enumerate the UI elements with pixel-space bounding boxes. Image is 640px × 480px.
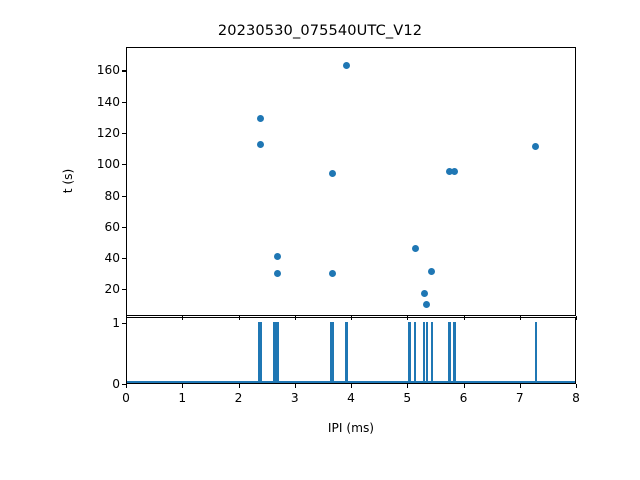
y-tick-label: 120 [82, 126, 120, 140]
stem-spike [408, 322, 411, 383]
y-tick-label: 0 [82, 377, 120, 391]
x-tick-mark [182, 384, 183, 388]
scatter-point [428, 268, 435, 275]
x-tick-label: 0 [122, 391, 130, 405]
stem-baseline [127, 381, 575, 383]
y-tick-label: 1 [82, 316, 120, 330]
x-tick-mark [182, 316, 183, 320]
x-tick-mark [407, 316, 408, 320]
y-tick-mark [122, 323, 126, 324]
x-tick-mark [576, 384, 577, 388]
stem-spike [332, 322, 335, 383]
y-tick-label: 80 [82, 189, 120, 203]
figure-title: 20230530_075540UTC_V12 [0, 22, 640, 39]
scatter-point [257, 115, 264, 122]
y-tick-mark [122, 196, 126, 197]
x-tick-mark [126, 384, 127, 388]
stem-spike [535, 322, 538, 383]
y-tick-label: 140 [82, 95, 120, 109]
x-tick-mark [520, 384, 521, 388]
x-tick-label: 5 [403, 391, 411, 405]
x-tick-mark [351, 384, 352, 388]
x-axis-label: IPI (ms) [328, 421, 374, 435]
stem-spike [448, 322, 451, 383]
x-tick-mark [295, 384, 296, 388]
scatter-point [274, 270, 281, 277]
scatter-point [257, 141, 264, 148]
x-tick-mark [464, 316, 465, 320]
x-tick-mark [295, 316, 296, 320]
x-tick-mark [464, 384, 465, 388]
y-axis-label: t (s) [61, 169, 75, 194]
stem-spike [431, 322, 434, 383]
x-tick-mark [407, 384, 408, 388]
x-tick-label: 1 [178, 391, 186, 405]
x-tick-mark [576, 316, 577, 320]
scatter-point [274, 253, 281, 260]
stem-spike [273, 322, 276, 383]
x-tick-label: 2 [235, 391, 243, 405]
y-tick-label: 160 [82, 63, 120, 77]
y-tick-mark [122, 289, 126, 290]
scatter-point [421, 290, 428, 297]
stem-plot-axes [126, 317, 576, 384]
y-tick-label: 60 [82, 220, 120, 234]
stem-spike [260, 322, 263, 383]
x-tick-label: 6 [460, 391, 468, 405]
y-tick-mark [122, 102, 126, 103]
y-tick-label: 40 [82, 251, 120, 265]
stem-spike [276, 322, 279, 383]
stem-spike [453, 322, 456, 383]
x-tick-label: 8 [572, 391, 580, 405]
y-tick-label: 100 [82, 157, 120, 171]
matplotlib-figure: 20230530_075540UTC_V12 t (s) IPI (ms) 20… [0, 0, 640, 480]
stem-spike [346, 322, 349, 383]
x-tick-mark [351, 316, 352, 320]
x-tick-label: 4 [347, 391, 355, 405]
x-tick-mark [239, 384, 240, 388]
y-tick-mark [122, 164, 126, 165]
y-tick-mark [122, 70, 126, 71]
y-tick-mark [122, 258, 126, 259]
scatter-point [343, 62, 350, 69]
scatter-point [412, 245, 419, 252]
stem-spike [426, 322, 429, 383]
scatter-point [451, 168, 458, 175]
scatter-point [532, 143, 539, 150]
x-tick-mark [239, 316, 240, 320]
scatter-plot-axes [126, 47, 576, 316]
stem-spike [414, 322, 417, 383]
x-tick-mark [520, 316, 521, 320]
scatter-point [329, 270, 336, 277]
scatter-point [329, 170, 336, 177]
y-tick-label: 20 [82, 282, 120, 296]
x-tick-label: 7 [516, 391, 524, 405]
y-tick-mark [122, 227, 126, 228]
y-tick-mark [122, 133, 126, 134]
scatter-point [423, 301, 430, 308]
x-tick-label: 3 [291, 391, 299, 405]
x-tick-mark [126, 316, 127, 320]
